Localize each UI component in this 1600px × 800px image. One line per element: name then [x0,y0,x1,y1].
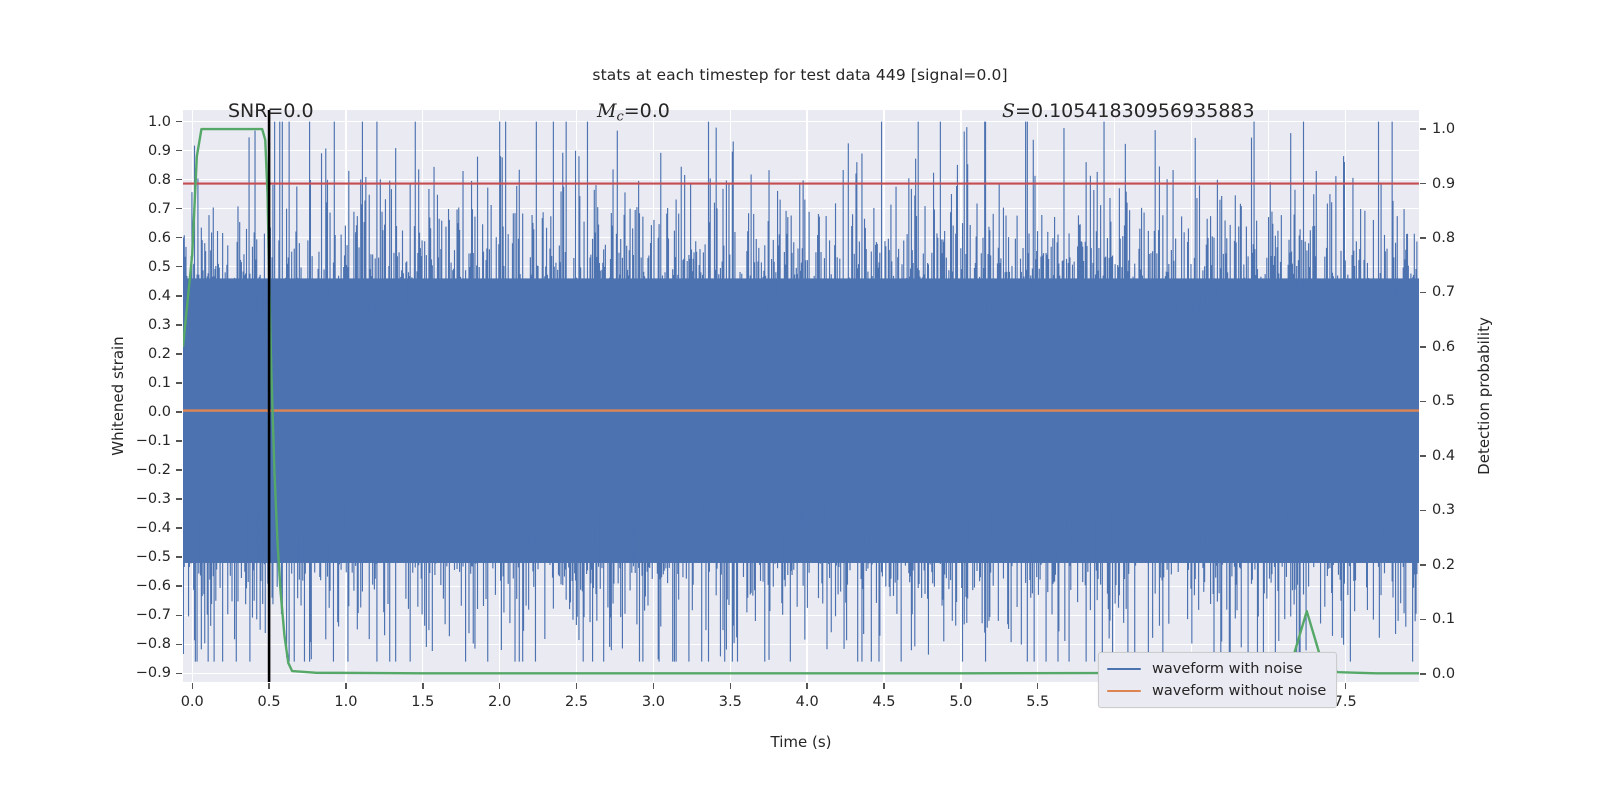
x-tick-label: 5.0 [949,694,972,710]
y-tick-mark-left [176,585,182,586]
y-tick-mark-left [176,179,182,180]
x-tick-label: 0.0 [181,694,204,710]
y-tick-mark-left [176,266,182,267]
y-tick-mark-left [176,440,182,441]
detection-probability-trace [183,129,1419,673]
y-tick-label-right: 1.0 [1432,121,1455,137]
y-tick-label-right: 0.4 [1432,448,1455,464]
y-tick-label-left: 0.4 [103,288,171,304]
x-tick-label: 3.5 [719,694,742,710]
y-tick-label-right: 0.9 [1432,176,1455,192]
y-tick-label-left: −0.9 [103,665,171,681]
y-tick-mark-left [176,469,182,470]
legend-color-swatch [1107,690,1141,693]
y-axis-right-label: Detection probability [1475,317,1493,475]
y-axis-left-label: Whitened strain [109,336,127,455]
y-tick-label-left: 0.3 [103,317,171,333]
y-tick-label-right: 0.1 [1432,611,1455,627]
y-tick-label-left: −0.2 [103,462,171,478]
y-tick-label-left: −0.8 [103,636,171,652]
legend-color-swatch [1107,668,1141,671]
y-tick-mark-left [176,208,182,209]
y-tick-mark-left [176,615,182,616]
x-tick-label: 3.0 [642,694,665,710]
x-tick-mark [883,683,884,689]
y-tick-label-right: 0.2 [1432,557,1455,573]
x-tick-label: 2.0 [488,694,511,710]
y-tick-label-left: −0.4 [103,520,171,536]
y-tick-mark-right [1420,673,1426,674]
y-tick-mark-right [1420,401,1426,402]
x-tick-label: 4.0 [796,694,819,710]
y-tick-label-left: −0.6 [103,578,171,594]
y-tick-label-left: 1.0 [103,114,171,130]
y-tick-label-left: −0.5 [103,549,171,565]
annotation-s-symbol: S [1002,100,1015,122]
x-tick-mark [653,683,654,689]
y-tick-label-left: 0.8 [103,172,171,188]
y-tick-mark-left [176,382,182,383]
y-tick-mark-left [176,295,182,296]
legend-label: waveform without noise [1152,683,1326,699]
x-tick-mark [730,683,731,689]
y-tick-label-left: −0.3 [103,491,171,507]
y-tick-label-right: 0.6 [1432,339,1455,355]
legend: waveform with noisewaveform without nois… [1098,652,1337,708]
plot-area [183,110,1419,682]
overlay-lines [183,110,1419,682]
y-tick-mark-left [176,673,182,674]
x-tick-label: 1.5 [411,694,434,710]
x-axis-label: Time (s) [771,733,832,751]
y-tick-label-left: 0.6 [103,230,171,246]
y-tick-mark-left [176,121,182,122]
y-tick-mark-left [176,556,182,557]
y-tick-mark-left [176,237,182,238]
x-tick-label: 1.0 [334,694,357,710]
x-tick-label: 7.5 [1334,694,1357,710]
annotation-s-value: =0.10541830956935883 [1015,100,1255,122]
y-tick-mark-right [1420,564,1426,565]
y-tick-label-right: 0.8 [1432,230,1455,246]
y-tick-mark-right [1420,619,1426,620]
annotation-mc-value: =0.0 [624,100,670,122]
y-tick-mark-right [1420,237,1426,238]
x-tick-label: 4.5 [872,694,895,710]
legend-item[interactable]: waveform with noise [1107,658,1326,680]
x-tick-mark [268,683,269,689]
y-tick-label-right: 0.7 [1432,284,1455,300]
y-tick-mark-left [176,644,182,645]
y-tick-mark-left [176,527,182,528]
y-tick-mark-right [1420,510,1426,511]
annotation-score: S=0.10541830956935883 [1002,100,1255,122]
y-tick-label-left: 0.9 [103,143,171,159]
plot-clip [183,110,1419,682]
x-tick-mark [960,683,961,689]
annotation-chirp-mass: Mc=0.0 [597,100,670,125]
x-tick-mark [499,683,500,689]
x-tick-mark [576,683,577,689]
y-tick-mark-left [176,411,182,412]
y-tick-mark-right [1420,183,1426,184]
legend-item[interactable]: waveform without noise [1107,680,1326,702]
figure: stats at each timestep for test data 449… [0,0,1600,800]
x-tick-mark [192,683,193,689]
x-tick-label: 0.5 [258,694,281,710]
x-tick-mark [422,683,423,689]
y-tick-label-right: 0.3 [1432,502,1455,518]
x-tick-mark [1037,683,1038,689]
y-tick-label-right: 0.0 [1432,666,1455,682]
y-tick-label-left: −0.7 [103,607,171,623]
y-tick-mark-left [176,353,182,354]
annotation-snr: SNR=0.0 [228,100,314,122]
x-tick-label: 2.5 [565,694,588,710]
y-tick-label-left: 0.5 [103,259,171,275]
x-tick-label: 5.5 [1026,694,1049,710]
y-tick-mark-right [1420,128,1426,129]
x-tick-mark [806,683,807,689]
chart-title: stats at each timestep for test data 449… [0,66,1600,84]
y-tick-mark-left [176,324,182,325]
annotation-mc-subscript: c [616,110,623,125]
x-tick-mark [345,683,346,689]
y-tick-label-right: 0.5 [1432,393,1455,409]
x-tick-mark [1345,683,1346,689]
y-tick-mark-right [1420,292,1426,293]
legend-label: waveform with noise [1152,661,1303,677]
y-tick-mark-right [1420,346,1426,347]
y-tick-mark-right [1420,455,1426,456]
y-tick-mark-left [176,498,182,499]
y-tick-mark-left [176,150,182,151]
y-tick-label-left: 0.7 [103,201,171,217]
annotation-mc-symbol: M [597,100,616,122]
